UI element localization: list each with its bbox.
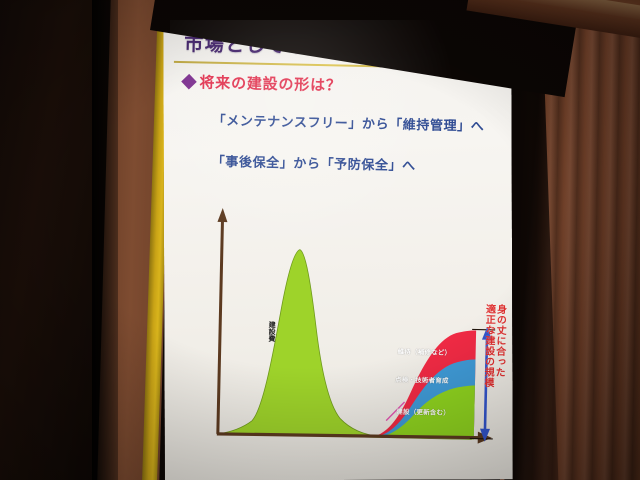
photo-scene: 市場としての建設分野のあり方 将来の建設の形は？ 「メンテナンスフリー」から「維…	[0, 0, 640, 480]
measure-tick-bottom	[470, 438, 493, 439]
slide-body-line-1: 「メンテナンスフリー」から「維持管理」へ	[212, 110, 484, 135]
diamond-bullet-icon	[181, 74, 197, 90]
chart-label-inspection: 点検・技術者育成	[395, 374, 449, 385]
annotation-column-1: 身の丈に合った	[493, 304, 505, 388]
chart-annotation-right: 身の丈に合った 適正な建設の規模	[482, 304, 505, 388]
slide-chart: 建設費 維持（補修など） 点検・技術者育成 建設（更新含む） 身の丈に合った 適…	[189, 201, 504, 458]
slide-body-line-2: 「事後保全」から「予防保全」へ	[212, 151, 416, 174]
slide-bullet: 将来の建設の形は？	[183, 71, 342, 95]
chart-label-construction-renewal: 建設（更新含む）	[396, 406, 450, 417]
annotation-column-2: 適正な建設の規模	[482, 304, 494, 388]
left-wall-shadow	[92, 0, 118, 480]
chart-label-maintenance: 維持（補修など）	[398, 346, 452, 357]
y-axis-arrowhead	[217, 208, 227, 222]
slide-bullet-text: 将来の建設の形は？	[199, 71, 342, 95]
chart-label-construction-cost: 建設費	[268, 321, 275, 342]
y-axis	[218, 218, 223, 434]
